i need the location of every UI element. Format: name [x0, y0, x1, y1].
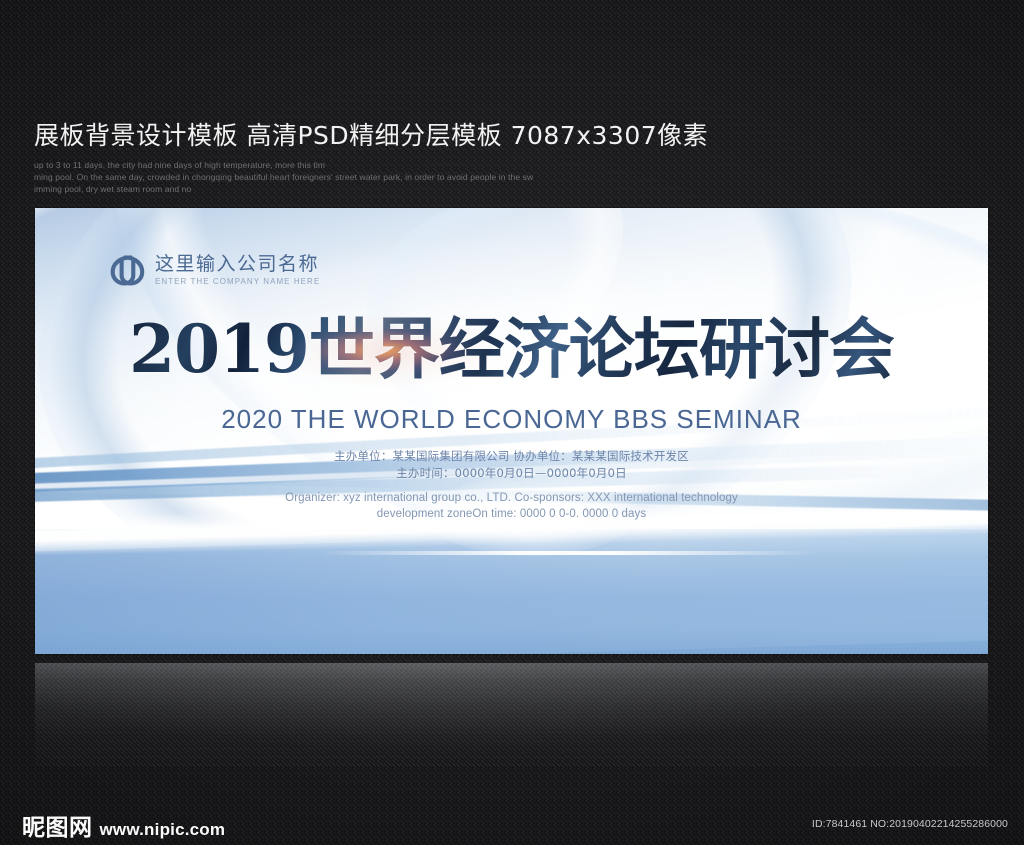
- organizer-line-en: Organizer: xyz international group co., …: [35, 490, 988, 506]
- company-logo-text: 这里输入公司名称 ENTER THE COMPANY NAME HERE: [155, 254, 320, 287]
- banner-artwork: 这里输入公司名称 ENTER THE COMPANY NAME HERE 201…: [35, 208, 988, 654]
- banner-reflection-panel: [35, 663, 988, 767]
- company-name-en: ENTER THE COMPANY NAME HERE: [155, 276, 320, 287]
- company-logo: 这里输入公司名称 ENTER THE COMPANY NAME HERE: [109, 253, 320, 287]
- header-description-line: imming pool, dry wet steam room and no: [34, 183, 834, 195]
- event-info: 主办单位：某某国际集团有限公司 协办单位：某某某国际技术开发区 主办时间：000…: [35, 448, 988, 522]
- company-name-cn: 这里输入公司名称: [155, 254, 320, 275]
- swirl-logo-icon: [109, 253, 145, 287]
- asset-id-label: ID:7841461 NO:20190402214255286000: [812, 818, 1008, 830]
- page-title: 展板背景设计模板 高清PSD精细分层模板 7087x3307像素: [34, 116, 834, 152]
- banner-content: 这里输入公司名称 ENTER THE COMPANY NAME HERE 201…: [35, 208, 988, 654]
- event-info-en: Organizer: xyz international group co., …: [35, 490, 988, 522]
- header-description-line: up to 3 to 11 days, the city had nine da…: [34, 159, 834, 171]
- site-brand-url: www.nipic.com: [100, 820, 226, 840]
- site-brand-cn: 昵图网: [22, 808, 93, 842]
- headline-container: 2019世界经济论坛研讨会: [35, 314, 988, 384]
- header: 展板背景设计模板 高清PSD精细分层模板 7087x3307像素 up to 3…: [34, 116, 834, 195]
- header-description: up to 3 to 11 days, the city had nine da…: [34, 159, 834, 195]
- header-description-line: ming pool. On the same day, crowded in c…: [34, 171, 834, 183]
- event-headline: 2019世界经济论坛研讨会: [129, 314, 894, 384]
- organizer-line-cn: 主办单位：某某国际集团有限公司 协办单位：某某某国际技术开发区: [35, 448, 988, 465]
- site-watermark: 昵图网 www.nipic.com: [22, 808, 225, 842]
- event-date-line-cn: 主办时间：0000年0月0日—0000年0月0日: [35, 465, 988, 482]
- reflection-sheen: [35, 663, 988, 767]
- event-subtitle-en: 2020 THE WORLD ECONOMY BBS SEMINAR: [35, 404, 988, 435]
- event-date-line-en: development zoneOn time: 0000 0 0-0. 000…: [35, 506, 988, 522]
